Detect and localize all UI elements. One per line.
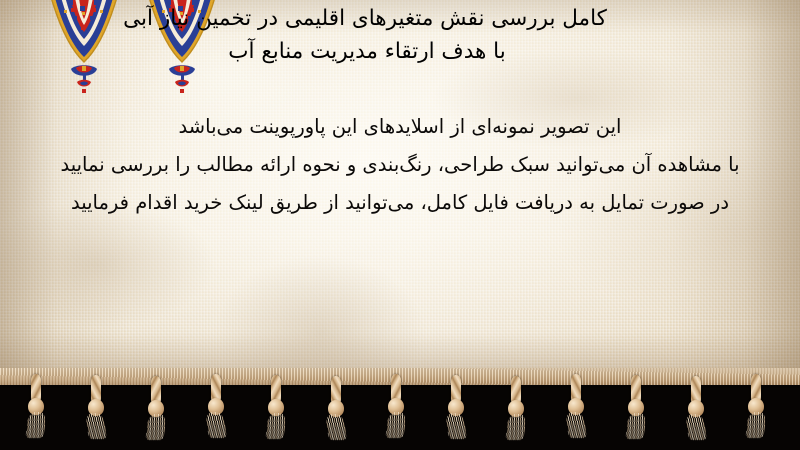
fringe-tassel [506,376,526,438]
title-line-2: با هدف ارتقاء مدیریت منابع آب [40,35,760,68]
fringe-tassel [86,375,106,437]
tassel-skirt [85,413,107,439]
tassel-skirt [325,414,347,440]
tassel-skirt [385,412,406,438]
slide-text-layer: کامل بررسی نقش متغیرهای اقلیمی در تخمین … [0,0,800,378]
body-line-1: این تصویر نمونه‌ای از اسلایدهای این پاور… [20,108,780,146]
slide-canvas: کامل بررسی نقش متغیرهای اقلیمی در تخمین … [0,0,800,450]
body-line-2: با مشاهده آن می‌توانید سبک طراحی، رنگ‌بن… [20,146,780,184]
fringe-tassel [386,374,406,436]
tassel-skirt [505,414,526,440]
fringe-tassel [206,374,226,436]
fringe-tassel [686,376,706,438]
tassel-skirt [145,414,166,440]
fringe-tassel [446,375,466,437]
title-line-1: کامل بررسی نقش متغیرهای اقلیمی در تخمین … [40,2,760,35]
fringe-tassel [626,375,646,437]
tassel-skirt [445,413,467,439]
body-line-3: در صورت تمایل به دریافت فایل کامل، می‌تو… [20,184,780,222]
tassel-skirt [685,414,707,440]
slide-body: این تصویر نمونه‌ای از اسلایدهای این پاور… [20,108,780,222]
tassel-skirt [25,412,46,438]
tassel-skirt [265,413,286,439]
fringe-tassel [26,374,46,436]
carpet-fringe [0,368,800,450]
tassel-skirt [565,412,587,438]
fringe-tassel [266,375,286,437]
tassel-skirt [625,413,646,439]
tassel-skirt [205,412,227,438]
fringe-tassel [746,374,766,436]
fringe-tassel [326,376,346,438]
slide-title: کامل بررسی نقش متغیرهای اقلیمی در تخمین … [40,2,760,68]
fringe-tassel [566,374,586,436]
fringe-tassel [146,376,166,438]
tassel-skirt [745,412,766,438]
